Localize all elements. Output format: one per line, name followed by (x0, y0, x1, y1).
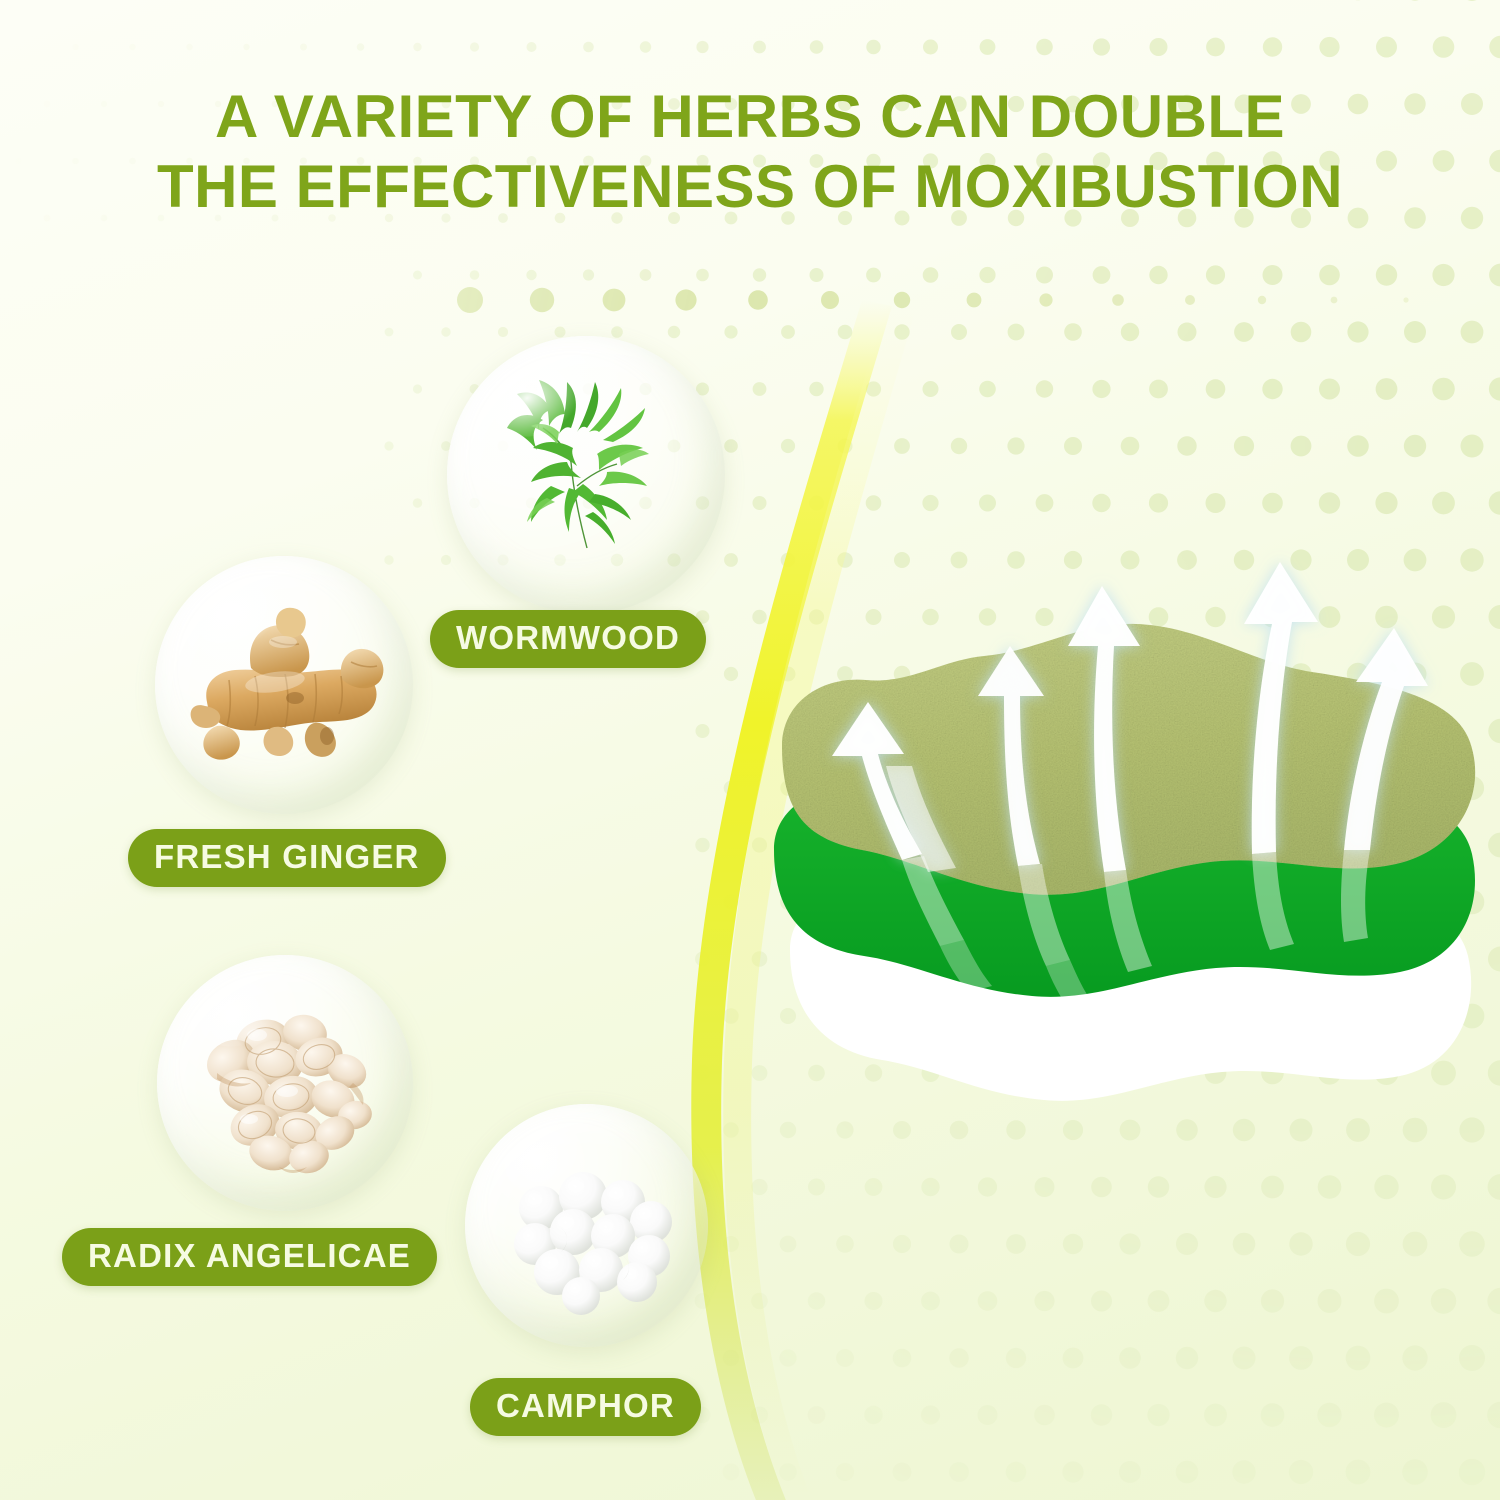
ingredient-label-camphor[interactable]: CAMPHOR (470, 1378, 701, 1436)
ingredient-bubble-ginger[interactable] (155, 556, 413, 814)
title-line-1: A VARIETY OF HERBS CAN DOUBLE (215, 83, 1285, 150)
product-layers-illustration (752, 520, 1500, 1140)
ingredient-bubble-wormwood[interactable] (447, 336, 725, 614)
title-line-2: THE EFFECTIVENESS OF MOXIBUSTION (26, 152, 1474, 222)
camphor-balls-icon (465, 1104, 708, 1347)
ingredient-bubble-angelicae[interactable] (157, 955, 413, 1211)
ingredient-bubble-camphor[interactable] (465, 1104, 708, 1347)
ingredient-label-fresh-ginger[interactable]: FRESH GINGER (128, 829, 446, 887)
root-slices-icon (157, 955, 413, 1211)
ingredient-label-radix-angelicae[interactable]: RADIX ANGELICAE (62, 1228, 437, 1286)
ginger-root-icon (155, 556, 413, 814)
infographic-canvas: A VARIETY OF HERBS CAN DOUBLE THE EFFECT… (0, 0, 1500, 1500)
wormwood-leaves-icon (447, 336, 725, 614)
page-title: A VARIETY OF HERBS CAN DOUBLE THE EFFECT… (0, 82, 1500, 221)
ingredient-label-wormwood[interactable]: WORMWOOD (430, 610, 706, 668)
